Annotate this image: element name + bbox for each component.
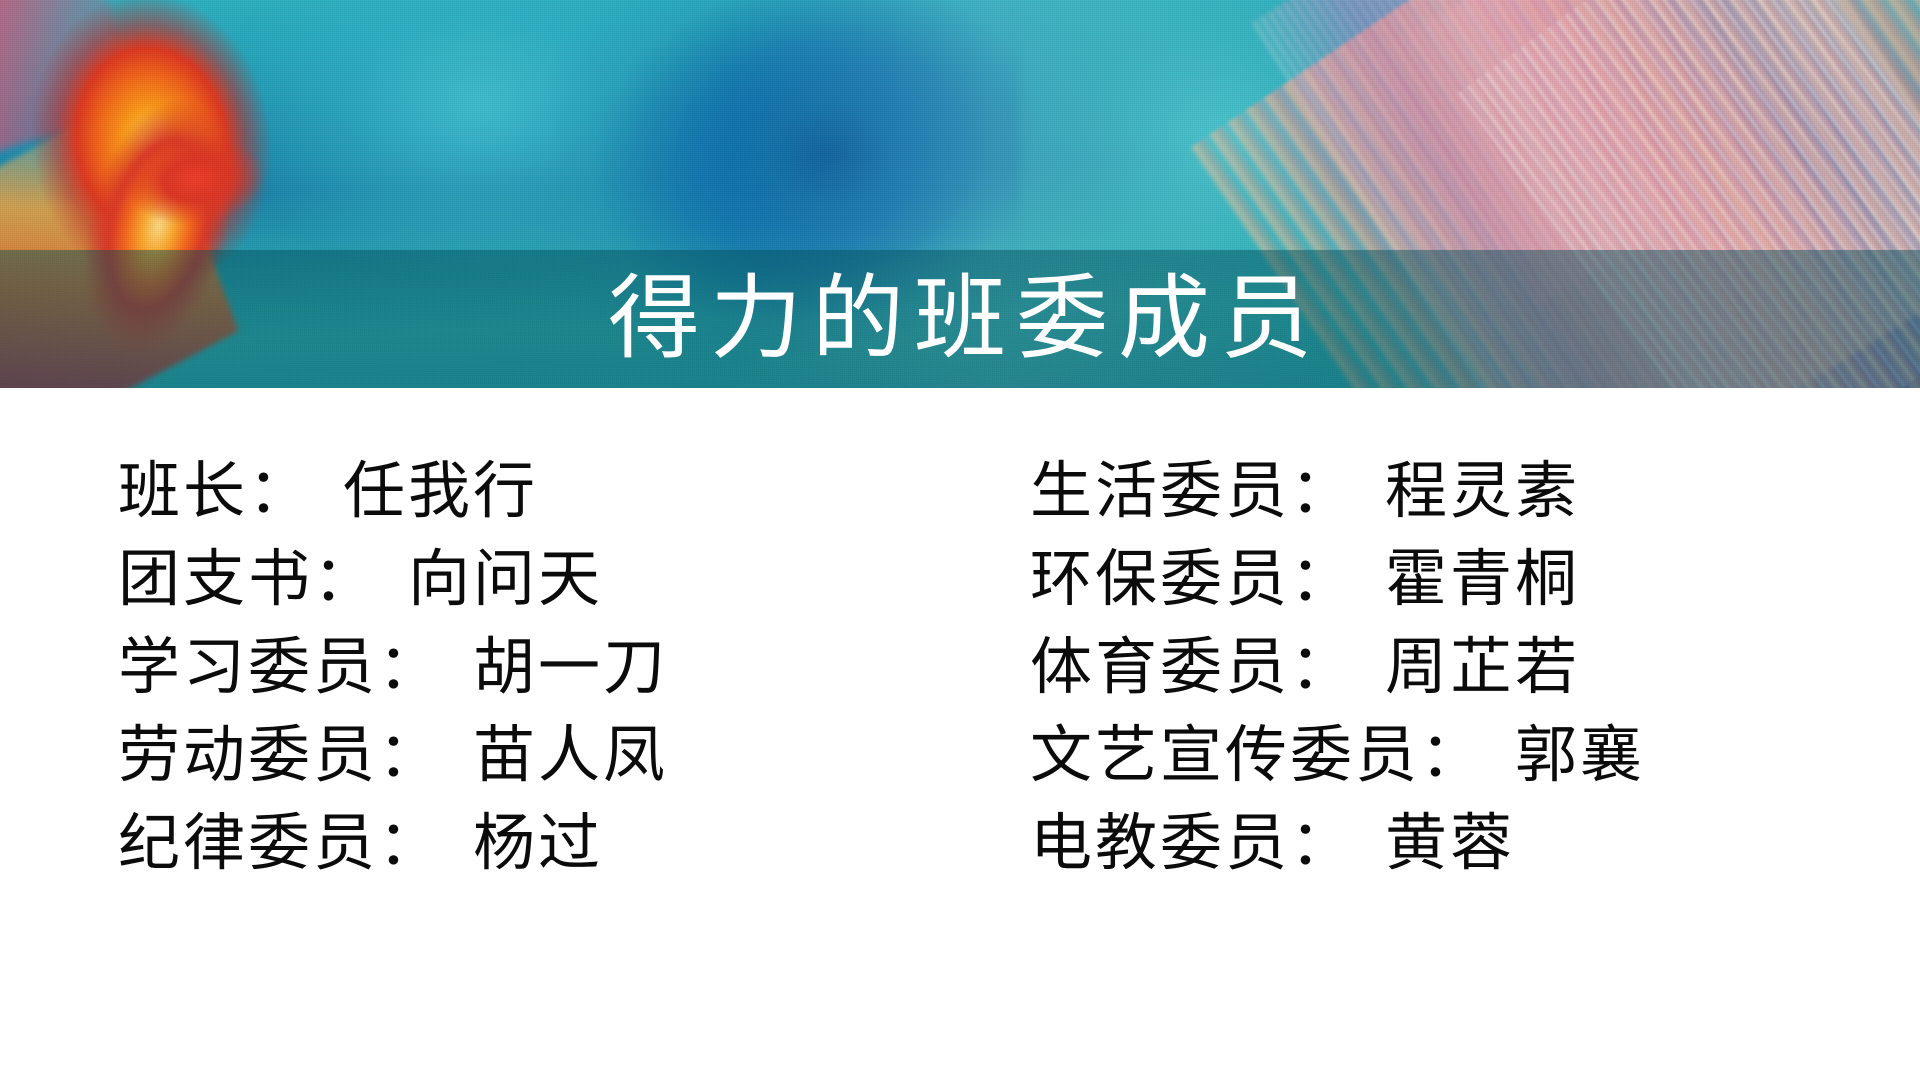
roster-name: 胡一刀 [473,637,668,699]
roster-name: 苗人凤 [473,725,668,787]
roster-line: 电教委员 ： 黄蓉 [1030,800,1830,888]
roster-colon: ： [248,461,313,523]
roster-colon: ： [378,725,443,787]
roster-line: 学习委员 ： 胡一刀 [118,624,878,712]
roster-name: 郭襄 [1515,725,1645,787]
roster-line: 班长 ： 任我行 [118,448,878,536]
roster-line: 环保委员 ： 霍青桐 [1030,536,1830,624]
roster-name: 程灵素 [1385,461,1580,523]
roster-name: 向问天 [408,549,603,611]
roster-name: 黄蓉 [1385,813,1515,875]
slide-title: 得力的班委成员 [0,250,1920,388]
roster-colon: ： [1290,637,1355,699]
roster-column-right: 生活委员 ： 程灵素 环保委员 ： 霍青桐 体育委员 ： 周芷若 文艺宣传委员 … [1030,448,1830,888]
roster-role: 环保委员 [1030,549,1290,611]
roster-line: 生活委员 ： 程灵素 [1030,448,1830,536]
roster-role: 纪律委员 [118,813,378,875]
roster-colon: ： [313,549,378,611]
roster-column-left: 班长 ： 任我行 团支书 ： 向问天 学习委员 ： 胡一刀 劳动委员 ： 苗人凤… [118,448,878,888]
roster-line: 体育委员 ： 周芷若 [1030,624,1830,712]
roster-role: 体育委员 [1030,637,1290,699]
roster-line: 劳动委员 ： 苗人凤 [118,712,878,800]
roster-body: 班长 ： 任我行 团支书 ： 向问天 学习委员 ： 胡一刀 劳动委员 ： 苗人凤… [0,388,1920,1080]
roster-colon: ： [378,813,443,875]
roster-colon: ： [1290,461,1355,523]
roster-role: 班长 [118,461,248,523]
roster-role: 学习委员 [118,637,378,699]
roster-name: 周芷若 [1385,637,1580,699]
roster-line: 文艺宣传委员 ： 郭襄 [1030,712,1830,800]
roster-role: 电教委员 [1030,813,1290,875]
roster-name: 任我行 [343,461,538,523]
roster-role: 文艺宣传委员 [1030,725,1420,787]
roster-colon: ： [378,637,443,699]
roster-line: 团支书 ： 向问天 [118,536,878,624]
header-banner: 得力的班委成员 [0,0,1920,388]
roster-name: 杨过 [473,813,603,875]
roster-line: 纪律委员 ： 杨过 [118,800,878,888]
presentation-slide: 得力的班委成员 班长 ： 任我行 团支书 ： 向问天 学习委员 ： 胡一刀 劳动… [0,0,1920,1080]
roster-colon: ： [1290,549,1355,611]
roster-role: 劳动委员 [118,725,378,787]
roster-role: 生活委员 [1030,461,1290,523]
roster-role: 团支书 [118,549,313,611]
roster-name: 霍青桐 [1385,549,1580,611]
roster-colon: ： [1420,725,1485,787]
roster-colon: ： [1290,813,1355,875]
